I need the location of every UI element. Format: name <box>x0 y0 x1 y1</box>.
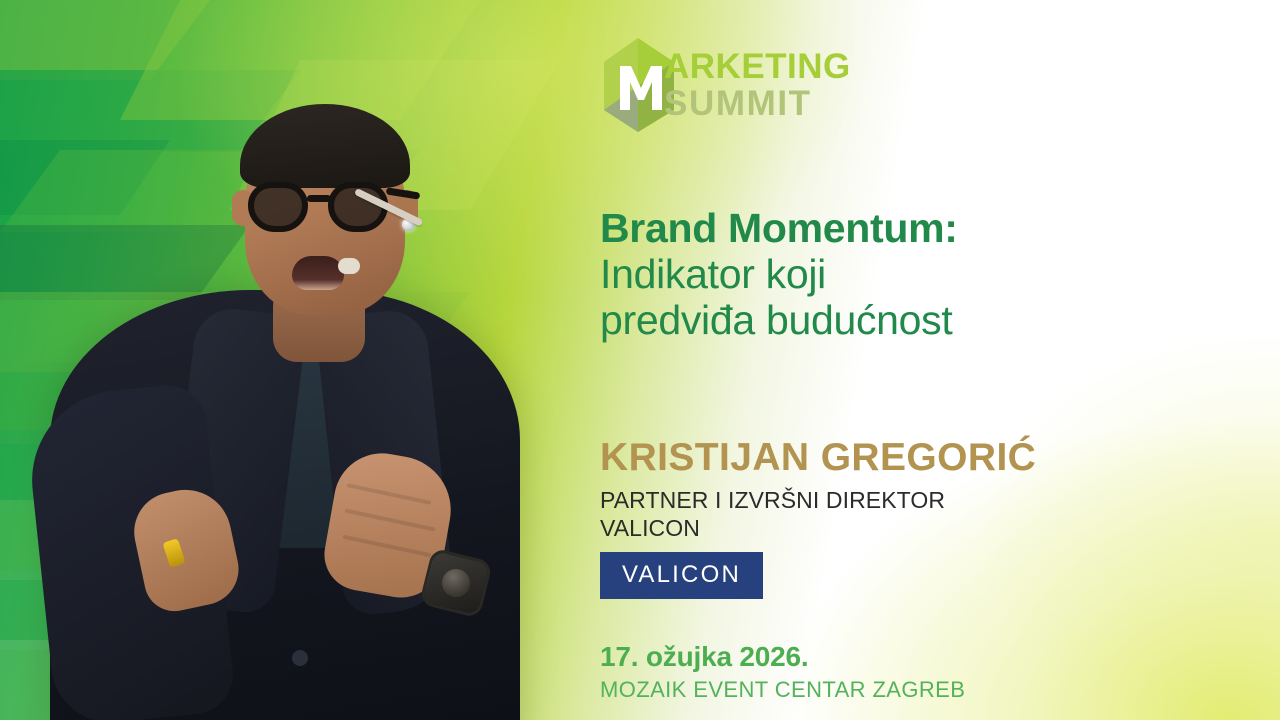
title-line-3: predviđa budućnost <box>600 298 1160 344</box>
speaker-role: PARTNER I IZVRŠNI DIREKTOR VALICON <box>600 486 1160 544</box>
title-line-1: Brand Momentum: <box>600 206 1160 252</box>
logo-line-summit: SUMMIT <box>664 86 851 121</box>
marketing-summit-logo: ARKETING SUMMIT <box>600 36 870 140</box>
event-venue: MOZAIK EVENT CENTAR ZAGREB <box>600 676 1160 704</box>
speaker-role-line-2: VALICON <box>600 514 1160 543</box>
company-logo-badge-valicon: VALICON <box>600 552 763 599</box>
headset-microphone-tip <box>338 258 360 274</box>
jacket-button <box>292 650 308 666</box>
speaker-role-line-1: PARTNER I IZVRŠNI DIREKTOR <box>600 486 1160 515</box>
promo-slide: ARKETING SUMMIT Brand Momentum: Indikato… <box>0 0 1280 720</box>
speaker-name: KRISTIJAN GREGORIĆ <box>600 436 1160 480</box>
speaker-mouth <box>292 256 344 290</box>
speaker-glasses-bridge <box>307 195 331 202</box>
event-details: 17. ožujka 2026. MOZAIK EVENT CENTAR ZAG… <box>600 640 1160 703</box>
logo-wordmark: ARKETING SUMMIT <box>664 50 851 121</box>
talk-title: Brand Momentum: Indikator koji predviđa … <box>600 206 1160 344</box>
event-date: 17. ožujka 2026. <box>600 640 1160 674</box>
speaker-info: KRISTIJAN GREGORIĆ PARTNER I IZVRŠNI DIR… <box>600 436 1160 599</box>
title-line-2: Indikator koji <box>600 252 1160 298</box>
speaker-hair <box>240 104 410 188</box>
speaker-photo <box>30 60 560 720</box>
speaker-glasses-lens-left <box>248 182 308 232</box>
logo-line-marketing: ARKETING <box>664 50 851 84</box>
